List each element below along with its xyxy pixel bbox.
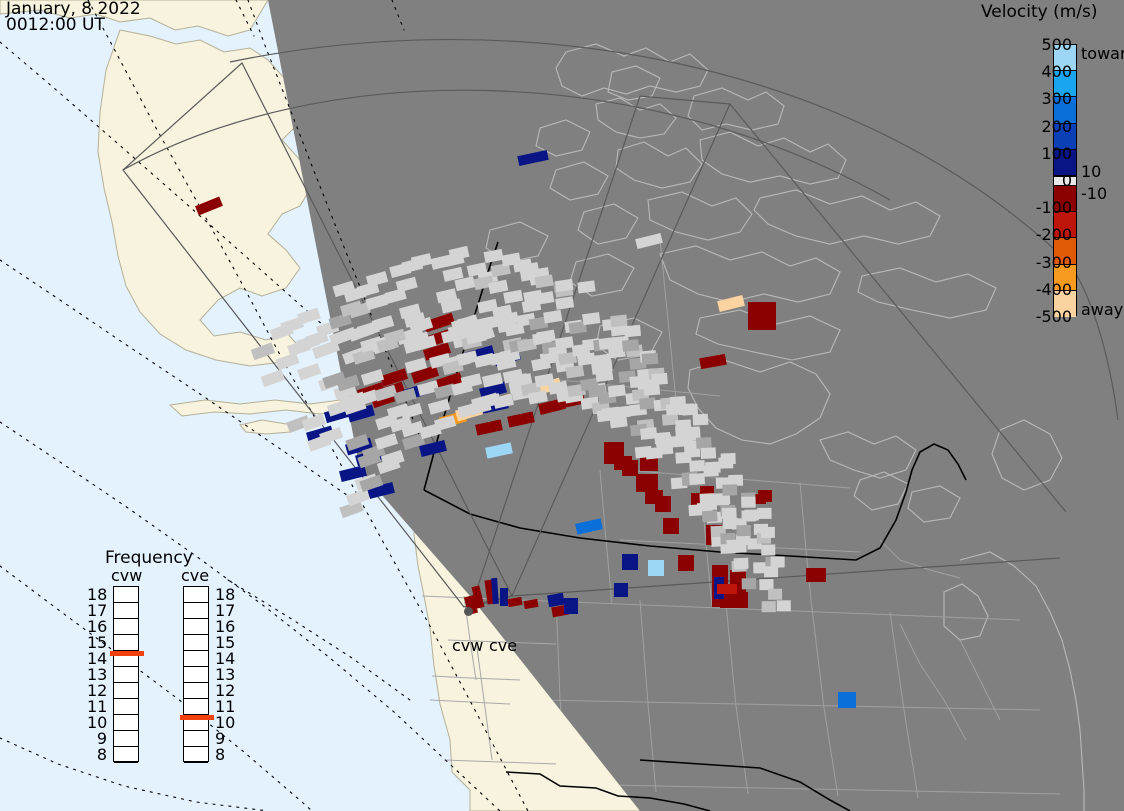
frequency-tick-label: 8 [87,745,107,764]
frequency-segment [114,635,138,651]
frequency-marker-cve [180,715,214,720]
ground-scatter-cell [577,280,595,293]
frequency-legend: Frequency cvw 18171615141312111098 cve 1… [88,548,233,798]
ground-scatter-cell [689,473,705,485]
frequency-segment [114,667,138,683]
radar-site-marker [464,607,473,616]
velocity-cell[interactable] [663,518,679,534]
ground-scatter-cell [693,414,709,426]
ground-scatter-cell [703,465,718,477]
ground-scatter-cell [722,484,737,495]
colorbar-tick-label: -500 [1036,307,1072,326]
colorbar-tick-label: -100 [1036,198,1072,217]
frequency-segment [184,731,208,747]
velocity-cell[interactable] [648,560,664,576]
frequency-segment [184,619,208,635]
ground-scatter-cell [742,578,757,589]
ground-scatter-cell [762,601,776,612]
colorbar-tick-label: 200 [1041,117,1072,136]
colorbar-tick-label: -300 [1036,253,1072,272]
frequency-segment [184,651,208,667]
frequency-segment [184,747,208,763]
frequency-segment [184,635,208,651]
velocity-cell[interactable] [720,592,748,608]
colorbar-title: Velocity (m/s) [981,2,1098,22]
ground-scatter-cell [622,339,639,352]
velocity-cell[interactable] [500,588,508,606]
velocity-colorbar: Velocity (m/s) 5004003002001000-100-200-… [975,0,1124,330]
ground-scatter-cell [736,525,751,536]
radar-map-view: January, 8 2022 0012:00 UT Velocity (m/s… [0,0,1124,811]
ground-scatter-cell [608,384,626,397]
frequency-title: Frequency [105,548,193,568]
frequency-bar-cve[interactable] [183,586,209,762]
site-label-cvw: cvw [452,636,483,655]
ground-scatter-cell [722,508,737,519]
ground-scatter-cell [764,566,778,577]
velocity-cell[interactable] [678,555,694,571]
velocity-cell[interactable] [636,474,658,492]
ground-scatter-cell [761,527,775,538]
ground-scatter-cell [642,353,659,365]
ground-scatter-cell [639,397,656,409]
colorbar-away-label: away [1081,300,1123,319]
colorbar-tick-label: 500 [1041,35,1072,54]
ground-scatter-cell [643,383,660,395]
title-time: 0012:00 UT [6,17,141,34]
frequency-segment [114,715,138,731]
velocity-cell[interactable] [838,692,856,708]
velocity-cell[interactable] [806,568,826,582]
colorbar-pos-threshold: 10 [1081,162,1101,181]
site-label-cve: cve [489,636,517,655]
colorbar-tick-label: 400 [1041,62,1072,81]
ground-scatter-cell [595,369,613,382]
ground-scatter-cell [651,373,668,385]
ground-scatter-cell [732,542,747,553]
colorbar-tick-label: 100 [1041,144,1072,163]
frequency-segment [114,603,138,619]
frequency-segment [184,603,208,619]
frequency-segment [114,747,138,763]
ground-scatter-cell [696,437,712,449]
frequency-column-cve[interactable]: cve 18171615141312111098 [183,586,209,762]
ground-scatter-cell [718,457,733,468]
ground-scatter-cell [702,510,718,522]
frequency-marker-cvw [110,651,144,656]
ground-scatter-cell [689,460,705,472]
frequency-tick-label: 8 [215,745,225,764]
ground-scatter-cell [757,508,771,519]
frequency-segment [114,587,138,603]
colorbar-tick-label: -400 [1036,280,1072,299]
velocity-cell[interactable] [758,490,772,502]
frequency-segment [184,699,208,715]
ground-scatter-cell [654,432,671,444]
ground-scatter-cell [613,406,631,419]
ground-scatter-cell [759,579,773,590]
velocity-cell[interactable] [622,460,638,476]
ground-scatter-cell [734,558,749,569]
colorbar-tick-label: 300 [1041,89,1072,108]
velocity-cell[interactable] [748,302,776,330]
colorbar-tick-label: 0 [1062,171,1072,190]
frequency-column-label-cve: cve [181,566,209,585]
ground-scatter-cell [701,447,717,459]
colorbar-neg-threshold: -10 [1081,184,1107,203]
frequency-segment [184,667,208,683]
ground-scatter-cell [771,556,785,567]
frequency-segment [184,683,208,699]
frequency-segment [114,683,138,699]
ground-scatter-cell [741,497,755,508]
ground-scatter-cell [624,325,641,338]
ground-scatter-cell [777,600,791,611]
frequency-column-cvw[interactable]: cvw 18171615141312111098 [113,586,139,762]
velocity-cell[interactable] [614,583,628,597]
velocity-cell[interactable] [564,598,578,614]
frequency-segment [114,731,138,747]
colorbar-tick-label: -200 [1036,225,1072,244]
timestamp-title: January, 8 2022 0012:00 UT [6,1,141,34]
ground-scatter-cell [761,544,775,555]
frequency-segment [114,619,138,635]
colorbar-toward-label: toward [1081,44,1124,63]
velocity-cell[interactable] [717,584,737,594]
ground-scatter-cell [582,312,600,325]
frequency-column-label-cvw: cvw [111,566,142,585]
ground-scatter-cell [768,589,782,600]
frequency-segment [184,587,208,603]
ground-scatter-cell [610,315,627,328]
velocity-cell[interactable] [622,554,638,570]
velocity-cell[interactable] [655,496,671,512]
frequency-bar-cvw[interactable] [113,586,139,762]
ground-scatter-cell [678,403,694,415]
ground-scatter-cell [744,510,758,521]
frequency-segment [114,699,138,715]
